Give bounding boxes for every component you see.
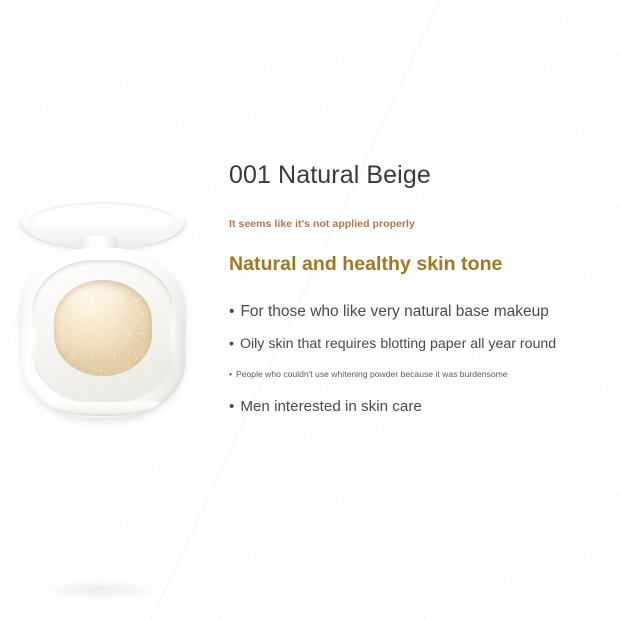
bullet-icon: • — [229, 302, 234, 323]
product-copy-column: 001 Natural Beige It seems like it's not… — [229, 160, 609, 417]
benefit-headline: Natural and healthy skin tone — [229, 252, 609, 276]
product-title: 001 Natural Beige — [229, 160, 609, 190]
case-left-highlight — [29, 294, 36, 390]
compact-inner-rim — [32, 260, 174, 404]
application-note: It seems like it's not applied properly — [229, 218, 609, 232]
compact-base — [20, 248, 186, 420]
bullet-icon: • — [229, 369, 232, 381]
case-right-highlight — [170, 288, 176, 376]
list-item: • Men interested in skin care — [229, 397, 609, 418]
product-image-compact-powder — [14, 192, 200, 424]
list-item-label: Oily skin that requires blotting paper a… — [240, 335, 556, 354]
powder-surface-highlight — [66, 286, 127, 315]
case-drop-shadow — [38, 582, 162, 598]
powder-pan — [54, 280, 152, 376]
list-item-label: People who couldn't use whitening powder… — [236, 369, 508, 381]
list-item: • For those who like very natural base m… — [229, 302, 609, 323]
list-item: • Oily skin that requires blotting paper… — [229, 335, 609, 354]
case-front-lip — [46, 402, 160, 416]
bullet-icon: • — [229, 397, 234, 418]
bullet-icon: • — [229, 335, 234, 354]
list-item-label: For those who like very natural base mak… — [240, 302, 548, 323]
list-item: • People who couldn't use whitening powd… — [229, 369, 609, 381]
list-item-label: Men interested in skin care — [240, 397, 422, 418]
benefit-list: • For those who like very natural base m… — [229, 302, 609, 417]
product-detail-page: 001 Natural Beige It seems like it's not… — [0, 0, 620, 620]
